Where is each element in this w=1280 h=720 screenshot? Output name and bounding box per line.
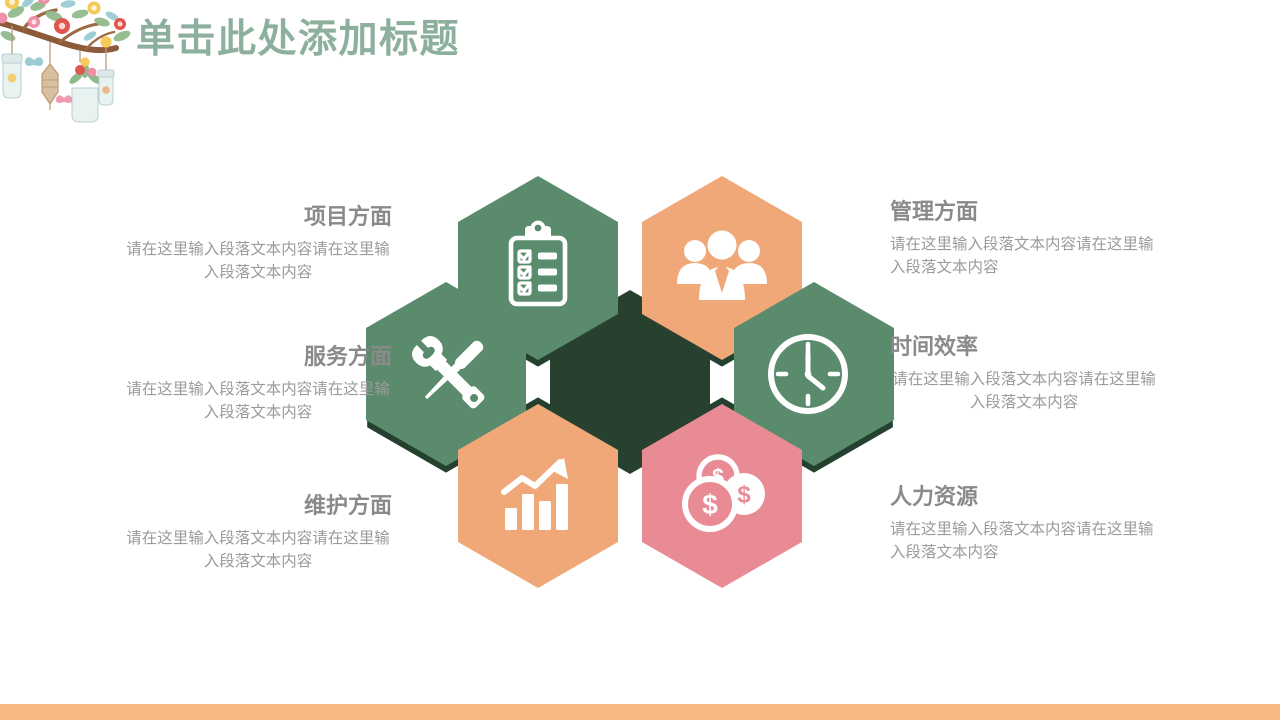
slide-canvas: 单击此处添加标题: [0, 0, 1280, 720]
callout-maintenance: 维护方面 请在这里输入段落文本内容请在这里输入段落文本内容: [124, 492, 392, 573]
svg-text:$: $: [702, 489, 718, 520]
callout-title: 服务方面: [124, 343, 392, 371]
callout-title: 项目方面: [124, 203, 392, 231]
callout-project: 项目方面 请在这里输入段落文本内容请在这里输入段落文本内容: [124, 203, 392, 284]
callout-title: 时间效率: [890, 333, 1158, 361]
callout-body: 请在这里输入段落文本内容请在这里输入段落文本内容: [890, 233, 1158, 280]
floral-branch-icon: [0, 0, 154, 127]
callout-service: 服务方面 请在这里输入段落文本内容请在这里输入段落文本内容: [124, 343, 392, 424]
callout-title: 维护方面: [124, 492, 392, 520]
page-title: 单击此处添加标题: [136, 14, 460, 67]
hanging-bouquet-jar-icon: [68, 57, 103, 122]
footer-accent-bar: [0, 704, 1280, 720]
butterfly-icon: [56, 95, 72, 103]
callout-body: 请在这里输入段落文本内容请在这里输入段落文本内容: [124, 378, 392, 425]
callout-body: 请在这里输入段落文本内容请在这里输入段落文本内容: [124, 238, 392, 285]
butterfly-icon: [25, 57, 43, 66]
callout-title: 管理方面: [890, 198, 1158, 226]
callout-body: 请在这里输入段落文本内容请在这里输入段落文本内容: [890, 368, 1158, 415]
callout-body: 请在这里输入段落文本内容请在这里输入段落文本内容: [124, 527, 392, 574]
callout-management: 管理方面 请在这里输入段落文本内容请在这里输入段落文本内容: [890, 198, 1158, 279]
hanging-small-jar-icon: [98, 70, 114, 105]
callout-body: 请在这里输入段落文本内容请在这里输入段落文本内容: [890, 518, 1158, 565]
callout-time-efficiency: 时间效率 请在这里输入段落文本内容请在这里输入段落文本内容: [890, 333, 1158, 414]
callout-title: 人力资源: [890, 483, 1158, 511]
svg-text:$: $: [737, 482, 751, 509]
clock-icon: [771, 337, 845, 411]
hexagon-cluster-diagram: $ $ $: [420, 158, 840, 608]
callout-human-resources: 人力资源 请在这里输入段落文本内容请在这里输入段落文本内容: [890, 483, 1158, 564]
hanging-jar-icon: [2, 54, 22, 98]
hanging-lantern-icon: [42, 64, 58, 110]
